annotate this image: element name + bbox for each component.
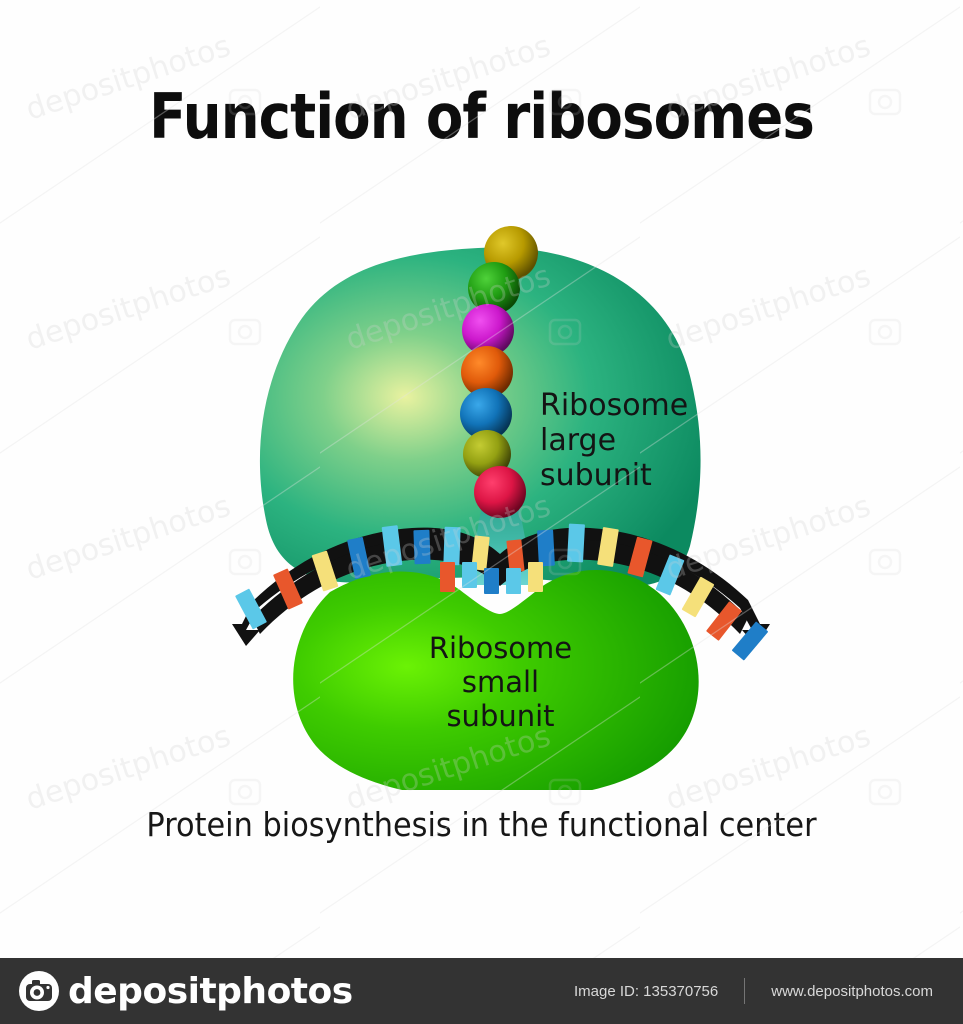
footer-logo[interactable]: depositphotos: [18, 970, 353, 1012]
footer-meta: Image ID: 135370756 www.depositphotos.co…: [574, 978, 933, 1004]
amino-acid-7: [474, 466, 526, 518]
camera-icon: [18, 970, 60, 1012]
page-title: Function of ribosomes: [58, 80, 905, 153]
footer-divider: [744, 978, 745, 1004]
image-id-text: Image ID: 135370756: [574, 983, 718, 1000]
footer-site-link[interactable]: www.depositphotos.com: [771, 983, 933, 1000]
ribosome-diagram: [0, 190, 963, 790]
illustration-canvas: Function of ribosomes: [0, 0, 963, 1024]
footer-brand-text: depositphotos: [68, 971, 353, 1012]
ribosome-small-subunit: [293, 570, 698, 790]
figure-caption: Protein biosynthesis in the functional c…: [39, 805, 925, 844]
depositphotos-footer-bar: depositphotos Image ID: 135370756 www.de…: [0, 958, 963, 1024]
